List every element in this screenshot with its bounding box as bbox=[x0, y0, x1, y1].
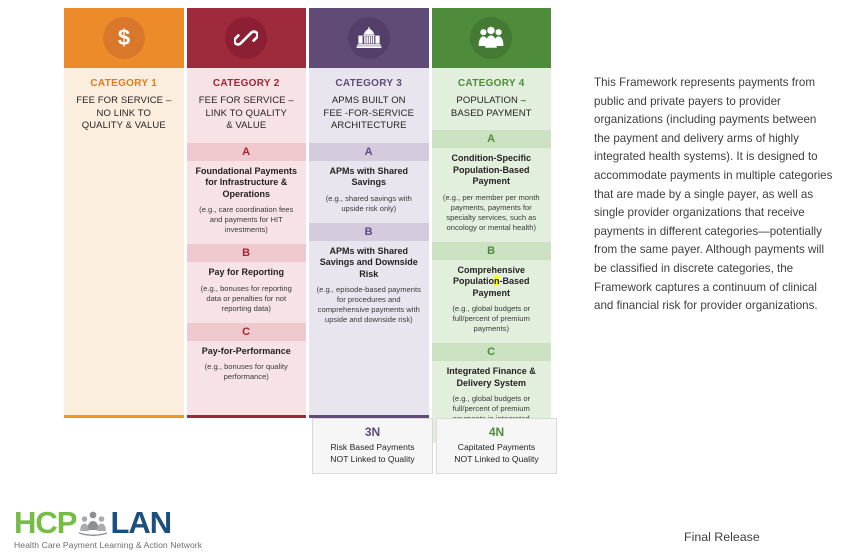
category-1-bottom-rule bbox=[64, 415, 184, 418]
category-2-icon-band bbox=[187, 8, 307, 68]
category-4-icon-band bbox=[432, 8, 552, 68]
box-4n-text: Capitated PaymentsNOT Linked to Quality bbox=[441, 442, 552, 465]
category-1-spacer bbox=[64, 143, 184, 416]
framework-page: $CATEGORY 1FEE FOR SERVICE –NO LINK TOQU… bbox=[0, 0, 845, 557]
payment-framework-columns: $CATEGORY 1FEE FOR SERVICE –NO LINK TOQU… bbox=[64, 8, 551, 418]
hcp-lan-logo: HCP LAN Health Care Payment Learning & A… bbox=[14, 507, 264, 551]
category-2-number: CATEGORY 2 bbox=[191, 78, 303, 89]
category-2-sub-A-title: Foundational Payments for Infrastructure… bbox=[193, 166, 301, 201]
category-1-header: CATEGORY 1FEE FOR SERVICE –NO LINK TOQUA… bbox=[64, 68, 184, 143]
category-1-subsections bbox=[64, 143, 184, 416]
category-4-sub-B-letter: B bbox=[432, 242, 552, 260]
box-3n-title: 3N bbox=[317, 425, 428, 439]
category-4-header: CATEGORY 4POPULATION –BASED PAYMENT bbox=[432, 68, 552, 130]
category-3-number: CATEGORY 3 bbox=[313, 78, 425, 89]
category-3-sub-B-example: (e.g., episode-based payments for proced… bbox=[315, 285, 423, 325]
people-group-icon bbox=[470, 17, 512, 59]
category-1-icon-band: $ bbox=[64, 8, 184, 68]
category-2-subsections: AFoundational Payments for Infrastructur… bbox=[187, 143, 307, 416]
framework-column-category-4: CATEGORY 4POPULATION –BASED PAYMENTACond… bbox=[432, 8, 552, 418]
framework-column-category-3: CATEGORY 3APMS BUILT ONFEE -FOR-SERVICEA… bbox=[309, 8, 429, 418]
category-2-sub-A-body: Foundational Payments for Infrastructure… bbox=[187, 161, 307, 245]
svg-text:$: $ bbox=[118, 26, 130, 50]
category-2-sub-A-letter: A bbox=[187, 143, 307, 161]
framework-description: This Framework represents payments from … bbox=[594, 74, 834, 316]
dollar-sign-icon: $ bbox=[103, 17, 145, 59]
box-4n-title: 4N bbox=[441, 425, 552, 439]
category-2-sub-C-title: Pay-for-Performance bbox=[193, 346, 301, 358]
logo-wordmark: HCP LAN bbox=[14, 507, 264, 539]
category-4-sub-B-body: Comprehensive Population-Based Payment(e… bbox=[432, 260, 552, 344]
category-2-sub-B-title: Pay for Reporting bbox=[193, 267, 301, 279]
final-release-label: Final Release bbox=[684, 530, 760, 544]
category-4-sub-C-title: Integrated Finance & Delivery System bbox=[438, 366, 546, 389]
category-4-subsections: ACondition-Specific Population-Based Pay… bbox=[432, 130, 552, 443]
category-3-title: APMS BUILT ONFEE -FOR-SERVICEARCHITECTUR… bbox=[313, 95, 425, 133]
category-4-sub-B-title: Comprehensive Population-Based Payment bbox=[438, 265, 546, 300]
category-4-sub-C-letter: C bbox=[432, 343, 552, 361]
category-3-header: CATEGORY 3APMS BUILT ONFEE -FOR-SERVICEA… bbox=[309, 68, 429, 143]
category-2-spacer bbox=[187, 391, 307, 415]
category-1-title: FEE FOR SERVICE –NO LINK TOQUALITY & VAL… bbox=[68, 95, 180, 133]
box-3n-text: Risk Based PaymentsNOT Linked to Quality bbox=[317, 442, 428, 465]
category-2-sub-C-example: (e.g., bonuses for quality performance) bbox=[193, 362, 301, 382]
category-4-sub-A-body: Condition-Specific Population-Based Paym… bbox=[432, 148, 552, 242]
category-3-spacer bbox=[309, 334, 429, 415]
category-4-title: POPULATION –BASED PAYMENT bbox=[436, 95, 548, 120]
category-2-sub-A-example: (e.g., care coordination fees and paymen… bbox=[193, 205, 301, 235]
capitol-building-icon bbox=[348, 17, 390, 59]
category-4-sub-A-letter: A bbox=[432, 130, 552, 148]
framework-column-category-2: CATEGORY 2FEE FOR SERVICE –LINK TO QUALI… bbox=[187, 8, 307, 418]
category-4-sub-A-example: (e.g., per member per month payments, pa… bbox=[438, 193, 546, 233]
logo-people-icon bbox=[78, 510, 108, 536]
category-2-bottom-rule bbox=[187, 415, 307, 418]
box-4n: 4NCapitated PaymentsNOT Linked to Qualit… bbox=[436, 418, 557, 474]
logo-lan-text: LAN bbox=[110, 505, 171, 541]
chain-link-icon bbox=[225, 17, 267, 59]
category-1-number: CATEGORY 1 bbox=[68, 78, 180, 89]
category-3-sub-B-title: APMs with Shared Savings and Downside Ri… bbox=[315, 246, 423, 281]
category-3-sub-A-letter: A bbox=[309, 143, 429, 161]
logo-hcp-text: HCP bbox=[14, 505, 76, 541]
logo-tagline: Health Care Payment Learning & Action Ne… bbox=[14, 540, 264, 550]
category-4-sub-B-example: (e.g., global budgets or full/percent of… bbox=[438, 304, 546, 334]
category-3-sub-A-title: APMs with Shared Savings bbox=[315, 166, 423, 189]
category-2-title: FEE FOR SERVICE –LINK TO QUALITY& VALUE bbox=[191, 95, 303, 133]
category-3-subsections: AAPMs with Shared Savings(e.g., shared s… bbox=[309, 143, 429, 416]
category-4-sub-A-title: Condition-Specific Population-Based Paym… bbox=[438, 153, 546, 188]
category-3-sub-A-example: (e.g., shared savings with upside risk o… bbox=[315, 194, 423, 214]
category-3-sub-B-letter: B bbox=[309, 223, 429, 241]
category-2-sub-C-body: Pay-for-Performance(e.g., bonuses for qu… bbox=[187, 341, 307, 392]
category-2-sub-B-body: Pay for Reporting(e.g., bonuses for repo… bbox=[187, 262, 307, 323]
category-2-sub-B-example: (e.g., bonuses for reporting data or pen… bbox=[193, 284, 301, 314]
category-3-sub-B-body: APMs with Shared Savings and Downside Ri… bbox=[309, 241, 429, 335]
box-3n: 3NRisk Based PaymentsNOT Linked to Quali… bbox=[312, 418, 433, 474]
category-3-sub-A-body: APMs with Shared Savings(e.g., shared sa… bbox=[309, 161, 429, 223]
category-2-header: CATEGORY 2FEE FOR SERVICE –LINK TO QUALI… bbox=[187, 68, 307, 143]
category-2-sub-B-letter: B bbox=[187, 244, 307, 262]
framework-column-category-1: $CATEGORY 1FEE FOR SERVICE –NO LINK TOQU… bbox=[64, 8, 184, 418]
category-3-icon-band bbox=[309, 8, 429, 68]
category-4-number: CATEGORY 4 bbox=[436, 78, 548, 89]
category-2-sub-C-letter: C bbox=[187, 323, 307, 341]
